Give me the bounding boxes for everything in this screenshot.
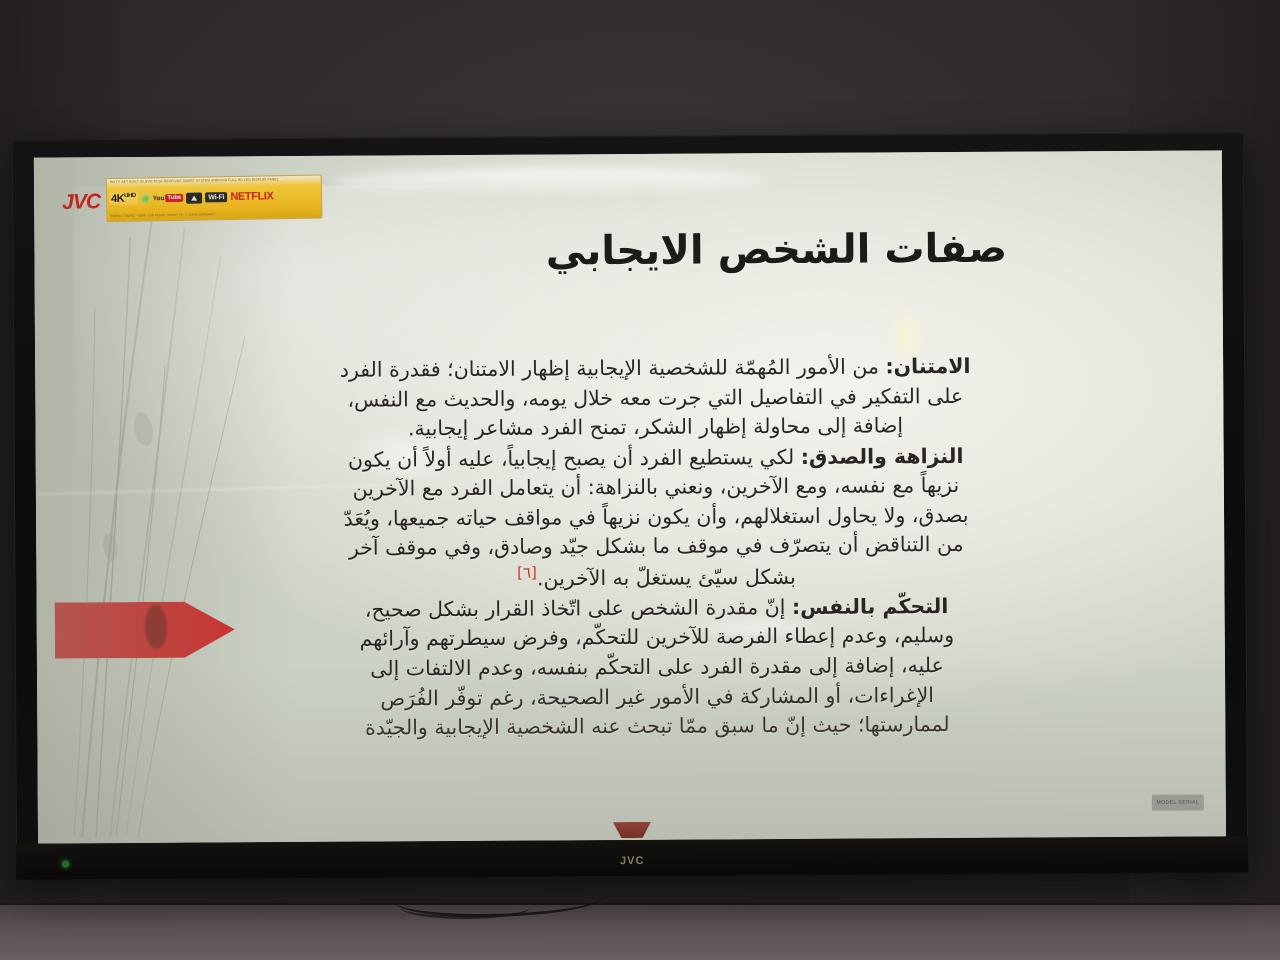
badge-4k-uhd-icon: 4KUHD [109, 193, 138, 205]
sticker-badge-row: 4KUHD YouTube Wi-Fi NETFLIX [109, 185, 319, 210]
badge-youtube-icon: YouTube [153, 194, 184, 203]
wall-lower-skirting [0, 905, 1280, 960]
slide-body: الامتنان: من الأمور المُهمّة للشخصية الإ… [335, 352, 977, 744]
slide-title: صفات الشخص الايجابي [366, 225, 1186, 276]
power-cable-secondary [400, 896, 530, 919]
sticker-microtext-bottom: ENERGY SAVING • HDMI • USB MOVIE • SMART… [110, 211, 318, 220]
arrow-stain [145, 605, 167, 649]
paragraph-lead-gratitude: الامتنان: [885, 354, 970, 379]
presentation-slide: صفات الشخص الايجابي الامتنان: من الأمور … [34, 150, 1226, 843]
paragraph-lead-selfcontrol: التحكّم بالنفس: [792, 594, 949, 619]
slide-paragraph-gratitude: الامتنان: من الأمور المُهمّة للشخصية الإ… [335, 352, 976, 444]
tv-screen: صفات الشخص الايجابي الامتنان: من الأمور … [34, 150, 1226, 843]
jvc-feature-sticker: JVC HD TV SET BUILT-IN DVB-T2/S2 RECEIVE… [62, 173, 321, 223]
room-photo-scene: صفات الشخص الايجابي الامتنان: من الأمور … [0, 0, 1280, 960]
badge-netflix-icon: NETFLIX [230, 190, 273, 203]
badge-green-dot-icon [141, 194, 150, 203]
badge-google-play-icon [186, 192, 202, 203]
paragraph-text-gratitude: من الأمور المُهمّة للشخصية الإيجابية إظه… [340, 354, 964, 440]
slide-paragraph-selfcontrol: التحكّم بالنفس: إنّ مقدرة الشخص على اتّخ… [337, 592, 978, 743]
jvc-logo-sticker: JVC [62, 190, 100, 215]
screen-glare-ceiling-light [334, 167, 764, 196]
tv-brand-logo: JVC [620, 855, 644, 867]
paragraph-lead-integrity: النزاهة والصدق: [801, 444, 964, 469]
screen-vignette-left [34, 156, 298, 844]
television: صفات الشخص الايجابي الامتنان: من الأمور … [12, 132, 1248, 880]
tv-bottom-bezel: JVC [16, 836, 1248, 880]
screen-corner-model-label: MODEL SERIAL [1152, 795, 1204, 811]
grass-motif-icon [34, 216, 338, 838]
sticker-badge-strip: HD TV SET BUILT-IN DVB-T2/S2 RECEIVER SM… [106, 175, 323, 223]
reference-marker: [٦] [517, 563, 537, 581]
slide-paragraph-integrity: النزاهة والصدق: لكي يستطيع الفرد أن يصبح… [336, 441, 977, 594]
tv-power-led-icon [62, 860, 69, 867]
badge-wifi-icon: Wi-Fi [205, 192, 227, 202]
